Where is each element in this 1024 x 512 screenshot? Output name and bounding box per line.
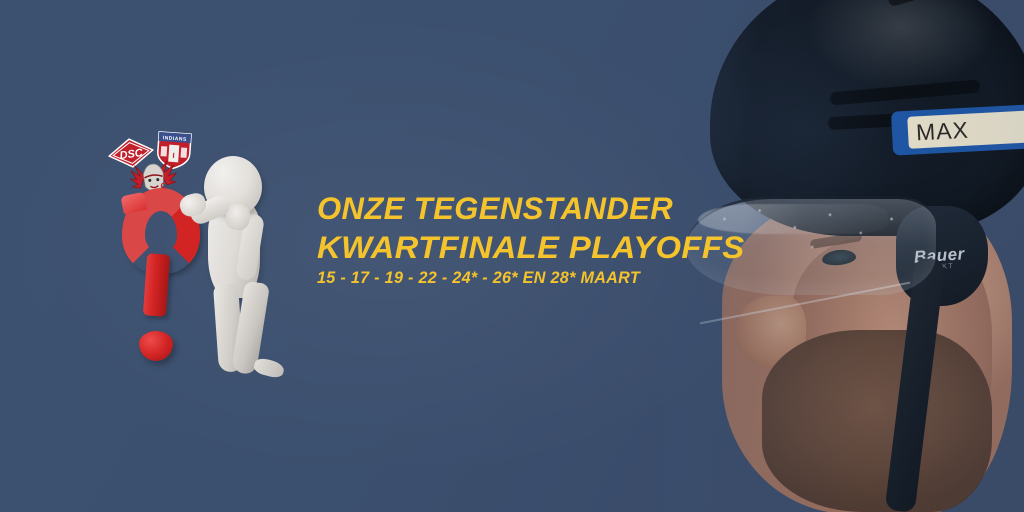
player-beard — [762, 330, 992, 512]
helmet-sticker-text: MAX — [915, 116, 969, 146]
helmet-vent-upper — [830, 79, 981, 105]
headline-block: ONZE TEGENSTANDER KWARTFINALE PLAYOFFS 1… — [317, 193, 737, 287]
helmet-sticker-label: MAX — [907, 110, 1024, 149]
headline-line-2: KWARTFINALE PLAYOFFS — [317, 232, 754, 264]
thinking-figure — [182, 156, 298, 374]
question-mark-stem — [143, 253, 170, 316]
headline-dates: 15 - 17 - 19 - 22 - 24* - 26* EN 28* MAA… — [317, 270, 729, 287]
thinking-figure-group: DSC INDIANS I C — [108, 128, 298, 378]
question-mark-dot — [139, 331, 173, 361]
headline-line-1: ONZE TEGENSTANDER — [317, 193, 731, 225]
helmet-sticker: MAX — [891, 104, 1024, 155]
figure-foot — [253, 357, 286, 380]
helmet-vent-top — [887, 0, 934, 7]
promo-banner: MAX Bauer RE-AKT DSC INDIANS I — [0, 0, 1024, 512]
